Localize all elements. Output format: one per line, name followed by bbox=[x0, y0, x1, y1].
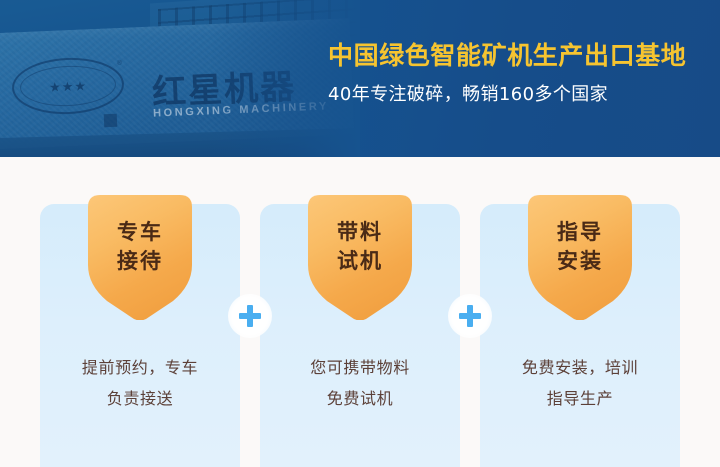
banner-text-block: 中国绿色智能矿机生产出口基地 40年专注破碎，畅销160多个国家 bbox=[328, 42, 710, 104]
service-description-1: 提前预约，专车 负责接送 bbox=[40, 352, 240, 414]
service-card-list: 专车 接待 提前预约，专车 负责接送 带料 试机 您可携带物料 免费试机 指导 … bbox=[40, 204, 680, 467]
service-card-1[interactable]: 专车 接待 提前预约，专车 负责接送 bbox=[40, 204, 240, 467]
badge-label-line1: 指导 bbox=[557, 218, 603, 247]
banner-title: 中国绿色智能矿机生产出口基地 bbox=[328, 42, 710, 70]
description-line2: 负责接送 bbox=[40, 383, 240, 414]
description-line2: 指导生产 bbox=[480, 383, 680, 414]
badge-label-line2: 接待 bbox=[117, 247, 163, 276]
badge-label-line1: 带料 bbox=[337, 218, 383, 247]
badge-label-line1: 专车 bbox=[117, 218, 163, 247]
service-description-3: 免费安装，培训 指导生产 bbox=[480, 352, 680, 414]
photo-fade-overlay bbox=[0, 0, 360, 157]
promo-page: ★★★ ® 红星机器 HONGXING MACHINERY 中国绿色智能矿机生产… bbox=[0, 0, 720, 467]
plus-glyph bbox=[459, 305, 481, 327]
plus-icon-2 bbox=[448, 294, 492, 338]
service-badge-3: 指导 安装 bbox=[528, 195, 632, 320]
description-line2: 免费试机 bbox=[260, 383, 460, 414]
description-line1: 提前预约，专车 bbox=[82, 358, 198, 377]
plus-icon-1 bbox=[228, 294, 272, 338]
service-badge-2: 带料 试机 bbox=[308, 195, 412, 320]
badge-label-line2: 安装 bbox=[557, 247, 603, 276]
plus-glyph bbox=[239, 305, 261, 327]
service-card-2[interactable]: 带料 试机 您可携带物料 免费试机 bbox=[260, 204, 460, 467]
service-card-3[interactable]: 指导 安装 免费安装，培训 指导生产 bbox=[480, 204, 680, 467]
description-line1: 免费安装，培训 bbox=[522, 358, 638, 377]
service-badge-1: 专车 接待 bbox=[88, 195, 192, 320]
banner-subtitle: 40年专注破碎，畅销160多个国家 bbox=[328, 85, 710, 105]
factory-signboard-photo: ★★★ ® 红星机器 HONGXING MACHINERY bbox=[0, 0, 360, 157]
badge-label-line2: 试机 bbox=[337, 247, 383, 276]
description-line1: 您可携带物料 bbox=[310, 358, 410, 377]
hero-banner: ★★★ ® 红星机器 HONGXING MACHINERY 中国绿色智能矿机生产… bbox=[0, 0, 720, 157]
service-description-2: 您可携带物料 免费试机 bbox=[260, 352, 460, 414]
